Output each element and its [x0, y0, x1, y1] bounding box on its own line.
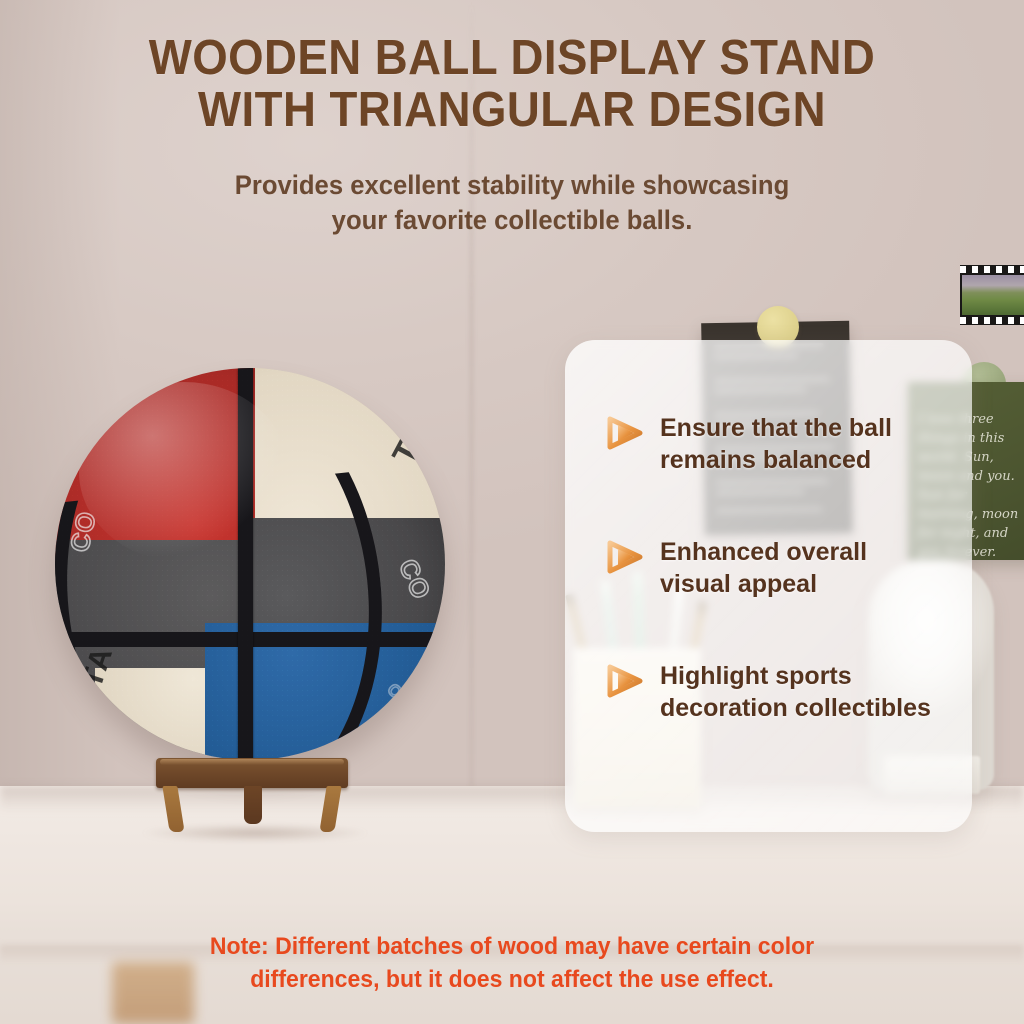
product-infographic: I love three things in this world. Sun, … — [0, 0, 1024, 1024]
feature-text: Ensure that the ball remains balanced — [660, 412, 986, 476]
feature-text: Enhanced overall visual appeal — [660, 536, 986, 600]
feature-item: Highlight sports decoration collectibles — [606, 660, 986, 730]
orange-play-arrow-icon — [606, 664, 646, 700]
feature-line-2: decoration collectibles — [660, 692, 986, 724]
feature-item: Ensure that the ball remains balanced — [606, 412, 986, 482]
feature-line-1: Ensure that the ball — [660, 412, 986, 444]
feature-item: Enhanced overall visual appeal — [606, 536, 986, 606]
page-subtitle-line-2: your favorite collectible balls. — [26, 203, 999, 238]
ball-pebble-texture — [55, 368, 445, 760]
feature-text: Highlight sports decoration collectibles — [660, 660, 986, 724]
film-perforations-bottom — [960, 317, 1024, 324]
stand-leg-center — [244, 786, 262, 824]
feature-line-2: visual appeal — [660, 568, 986, 600]
orange-play-arrow-icon — [606, 416, 646, 452]
feature-list: Ensure that the ball remains balanced En… — [606, 412, 986, 784]
stand-leg-left — [162, 786, 184, 832]
landscape-photo — [962, 275, 1024, 315]
disclaimer-line-1: Note: Different batches of wood may have… — [20, 930, 1003, 963]
page-title: WOODEN BALL DISPLAY STAND WITH TRIANGULA… — [36, 32, 988, 136]
stand-leg-right — [319, 786, 341, 832]
stand-platform-highlight — [160, 759, 344, 765]
feature-line-1: Highlight sports — [660, 660, 986, 692]
feature-line-1: Enhanced overall — [660, 536, 986, 568]
orange-play-arrow-icon — [606, 540, 646, 576]
disclaimer-note: Note: Different batches of wood may have… — [20, 930, 1003, 996]
film-perforations-top — [960, 266, 1024, 273]
wooden-display-stand — [148, 758, 356, 836]
page-title-line-2: WITH TRIANGULAR DESIGN — [36, 84, 988, 136]
page-subtitle: Provides excellent stability while showc… — [26, 168, 999, 238]
filmstrip-photo-frame — [960, 265, 1024, 325]
basketball-body: TA TA CO CO CO — [55, 368, 445, 760]
feature-line-2: remains balanced — [660, 444, 986, 476]
basketball: TA TA CO CO CO — [55, 368, 445, 768]
page-title-line-1: WOODEN BALL DISPLAY STAND — [36, 32, 988, 84]
page-subtitle-line-1: Provides excellent stability while showc… — [26, 168, 999, 203]
disclaimer-line-2: differences, but it does not affect the … — [20, 963, 1003, 996]
